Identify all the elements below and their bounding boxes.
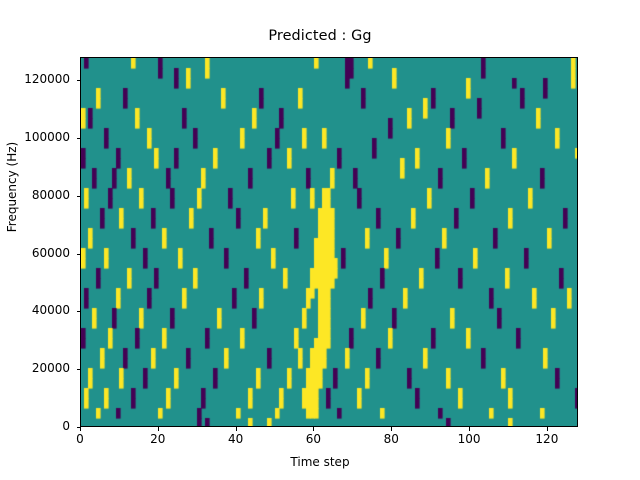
y-tick-mark bbox=[77, 138, 81, 139]
x-tick-mark bbox=[236, 427, 237, 431]
y-tick-mark bbox=[77, 369, 81, 370]
figure-canvas: Predicted : Gg Time step Frequency (Hz) … bbox=[0, 0, 640, 480]
x-tick-label: 0 bbox=[50, 432, 110, 446]
x-tick-label: 40 bbox=[206, 432, 266, 446]
y-tick-label: 100000 bbox=[0, 130, 70, 144]
y-tick-mark bbox=[77, 196, 81, 197]
y-tick-label: 80000 bbox=[0, 188, 70, 202]
x-tick-mark bbox=[547, 427, 548, 431]
x-tick-label: 80 bbox=[361, 432, 421, 446]
heatmap-plot-area[interactable] bbox=[80, 57, 578, 427]
x-tick-mark bbox=[469, 427, 470, 431]
x-tick-mark bbox=[158, 427, 159, 431]
y-tick-label: 60000 bbox=[0, 246, 70, 260]
x-tick-mark bbox=[391, 427, 392, 431]
x-tick-mark bbox=[80, 427, 81, 431]
chart-title: Predicted : Gg bbox=[0, 28, 640, 44]
y-tick-mark bbox=[77, 254, 81, 255]
y-tick-label: 40000 bbox=[0, 303, 70, 317]
x-tick-mark bbox=[313, 427, 314, 431]
x-tick-label: 120 bbox=[517, 432, 577, 446]
x-tick-label: 60 bbox=[283, 432, 343, 446]
y-tick-mark bbox=[77, 80, 81, 81]
y-tick-mark bbox=[77, 427, 81, 428]
y-tick-label: 0 bbox=[0, 419, 70, 433]
x-tick-label: 100 bbox=[439, 432, 499, 446]
x-axis-label: Time step bbox=[0, 455, 640, 469]
y-tick-mark bbox=[77, 311, 81, 312]
heatmap-image bbox=[81, 58, 578, 427]
x-tick-label: 20 bbox=[128, 432, 188, 446]
y-tick-label: 20000 bbox=[0, 361, 70, 375]
y-tick-label: 120000 bbox=[0, 72, 70, 86]
